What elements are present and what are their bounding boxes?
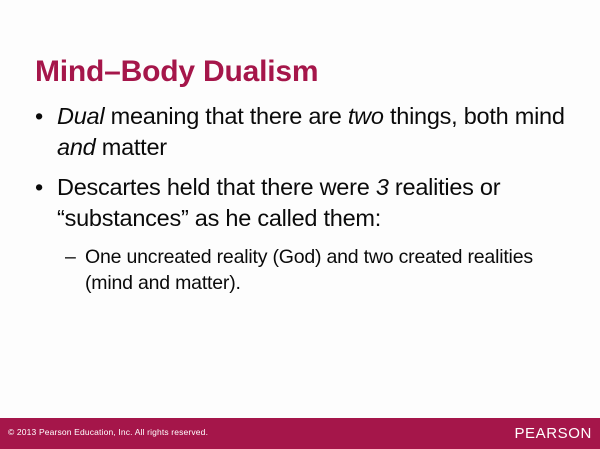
bullet-dash-icon: – <box>65 244 76 270</box>
list-item: • Dual meaning that there are two things… <box>30 101 570 163</box>
bullet-dot-icon: • <box>35 172 43 203</box>
sub-list-item: – One uncreated reality (God) and two cr… <box>30 244 570 296</box>
emphasis-text: two <box>348 103 384 129</box>
list-item: • Descartes held that there were 3 reali… <box>30 172 570 234</box>
list-item-text: Dual meaning that there are two things, … <box>57 103 565 160</box>
slide-body: • Dual meaning that there are two things… <box>30 101 570 296</box>
list-item-text-part: matter <box>95 134 166 160</box>
list-item-text-part: Descartes held that there were <box>57 174 376 200</box>
footer-bar: © 2013 Pearson Education, Inc. All right… <box>0 418 600 449</box>
list-item-text: Descartes held that there were 3 realiti… <box>57 174 500 231</box>
pearson-logo: PEARSON <box>514 425 592 442</box>
emphasis-text: and <box>57 134 95 160</box>
copyright-text: © 2013 Pearson Education, Inc. All right… <box>8 427 208 437</box>
page-title: Mind–Body Dualism <box>35 56 318 88</box>
emphasis-text: 3 <box>376 174 389 200</box>
list-item-text-part: things, both mind <box>384 103 565 129</box>
list-item-text-part: meaning that there are <box>104 103 348 129</box>
emphasis-text: Dual <box>57 103 104 129</box>
bullet-dot-icon: • <box>35 101 43 132</box>
sub-list-item-text: One uncreated reality (God) and two crea… <box>85 246 533 294</box>
slide: Mind–Body Dualism • Dual meaning that th… <box>0 0 600 449</box>
